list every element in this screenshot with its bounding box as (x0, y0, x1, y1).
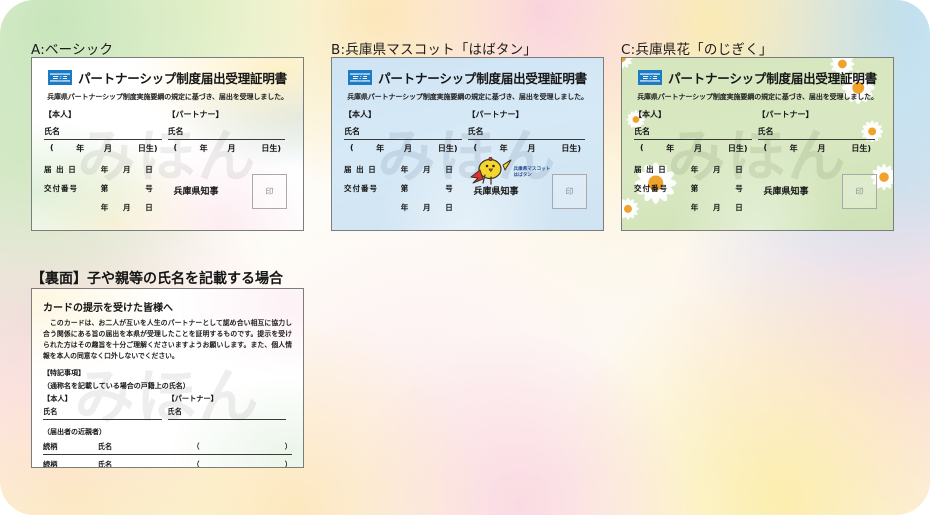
dob-open-paren: ( (764, 143, 779, 154)
dob-day: 日生) (244, 143, 285, 154)
table-row: 交付番号 第 号 (634, 183, 758, 194)
dob-open-paren: ( (350, 143, 365, 154)
governor-name: 兵庫県知事 (174, 184, 219, 197)
submission-date-month: 月 (423, 164, 445, 175)
partner-bracket-label: 【パートナー】 (758, 109, 882, 120)
kin-close-paren: ） (242, 460, 292, 468)
self-name-field: 氏名 ( 年 月 日生) (344, 126, 468, 154)
kin-name-label: 氏名 (98, 460, 193, 468)
section-label-a: A:ベーシック (31, 38, 113, 58)
mascot-caption: 兵庫県マスコット はばタン (514, 167, 551, 179)
hyogo-prefecture-emblem-icon (348, 70, 372, 85)
certificate-card-c: みほん パートナーシップ制度届出受理証明書 兵庫県パートナーシップ制度実施要綱 (621, 57, 894, 231)
dob-year: 年 (779, 143, 809, 154)
self-name-label: 氏名 (344, 126, 462, 140)
issue-date-day: 日 (445, 202, 467, 213)
issue-number-label: 交付番号 (44, 183, 101, 194)
issue-date-month: 月 (713, 202, 735, 213)
dob-day: 日生) (711, 143, 752, 154)
self-name-label: 氏名 (44, 126, 162, 140)
hyogo-prefecture-emblem-icon (48, 70, 72, 85)
dob-month: 月 (219, 143, 245, 154)
certificate-title: パートナーシップ制度届出受理証明書 (378, 68, 587, 87)
submission-date-year: 年 (401, 164, 423, 175)
back-side-heading: 【裏面】子や親等の氏名を記載する場合 (31, 268, 283, 288)
card-title-row: パートナーシップ制度届出受理証明書 (344, 68, 591, 87)
dob-day: 日生) (421, 143, 462, 154)
hyogo-prefecture-emblem-icon (638, 70, 662, 85)
lower-fields: 届 出 日 年 月 日 交付番号 第 号 (44, 164, 291, 221)
bracket-row: 【本人】 【パートナー】 (344, 109, 591, 120)
governor-name: 兵庫県知事 (764, 184, 809, 197)
mascot-caption-line1: 兵庫県マスコット (514, 167, 551, 173)
table-row: 年 月 日 (44, 202, 168, 213)
partner-name-field: 氏名 ( 年 月 日生) (168, 126, 292, 154)
seal-box: 印 (552, 174, 587, 209)
dob-month: 月 (95, 143, 121, 154)
self-name-field: 氏名 ( 年 月 日生) (634, 126, 758, 154)
dob-month: 月 (809, 143, 835, 154)
issue-number-prefix: 第 (691, 183, 713, 194)
certificate-card-b: みほん パートナーシップ制度届出受理証明書 兵庫県パートナーシップ制度実施要綱 (331, 57, 604, 231)
habatan-mascot-icon (470, 155, 512, 187)
table-row: 交付番号 第 号 (344, 183, 468, 194)
back-side-card: みほん カードの提示を受けた皆様へ このカードは、お二人が互いを人生のパートナー… (31, 288, 304, 468)
back-bracket-row: 【本人】 【パートナー】 (43, 394, 292, 404)
certificate-subtitle: 兵庫県パートナーシップ制度実施要綱の規定に基づき、届出を受理しました。 (344, 92, 591, 102)
partner-bracket-label: 【パートナー】 (468, 109, 592, 120)
dob-month: 月 (685, 143, 711, 154)
self-bracket-label: 【本人】 (344, 109, 468, 120)
certificate-title: パートナーシップ制度届出受理証明書 (78, 68, 287, 87)
certificate-card-a: みほん パートナーシップ制度届出受理証明書 兵庫県パートナーシップ制度実施要綱 (31, 57, 304, 231)
partner-dob-line: ( 年 月 日生) (168, 143, 286, 154)
seal-box: 印 (842, 174, 877, 209)
partner-name-label: 氏名 (168, 126, 286, 140)
dob-month: 月 (395, 143, 421, 154)
issue-date-year: 年 (691, 202, 713, 213)
partner-name-field: 氏名 ( 年 月 日生) (468, 126, 592, 154)
certificate-subtitle: 兵庫県パートナーシップ制度実施要綱の規定に基づき、届出を受理しました。 (634, 92, 881, 102)
dob-day: 日生) (544, 143, 585, 154)
kin-relation-label: 続柄 (43, 442, 98, 452)
table-row: 年 月 日 (344, 202, 468, 213)
submission-date-label: 届 出 日 (344, 164, 401, 175)
submission-date-day: 日 (445, 164, 467, 175)
certificate-subtitle: 兵庫県パートナーシップ制度実施要綱の規定に基づき、届出を受理しました。 (44, 92, 291, 102)
name-fields-row: 氏名 ( 年 月 日生) 氏名 ( 年 月 (344, 126, 591, 154)
lower-fields: 届 出 日 年 月 日 交付番号 第 号 (344, 164, 591, 221)
bracket-row: 【本人】 【パートナー】 (634, 109, 881, 120)
table-row: 交付番号 第 号 (44, 183, 168, 194)
issue-number-suffix: 号 (145, 183, 167, 194)
dob-year: 年 (189, 143, 219, 154)
kin-heading: （届出者の近親者） (43, 427, 292, 437)
issue-date-month: 月 (123, 202, 145, 213)
submission-date-year: 年 (691, 164, 713, 175)
self-bracket-label: 【本人】 (44, 109, 168, 120)
list-item: 続柄 氏名 （ ） (43, 442, 292, 455)
submission-date-year: 年 (101, 164, 123, 175)
issue-number-suffix: 号 (445, 183, 467, 194)
kin-relation-label: 続柄 (43, 460, 98, 468)
name-fields-row: 氏名 ( 年 月 日生) 氏名 ( 年 月 (44, 126, 291, 154)
dob-year: 年 (489, 143, 519, 154)
issue-date-day: 日 (145, 202, 167, 213)
card-title-row: パートナーシップ制度届出受理証明書 (44, 68, 291, 87)
dob-open-paren: ( (174, 143, 189, 154)
self-dob-line: ( 年 月 日生) (344, 143, 462, 154)
card-title-row: パートナーシップ制度届出受理証明書 (634, 68, 881, 87)
issue-date-month: 月 (423, 202, 445, 213)
issue-date-year: 年 (401, 202, 423, 213)
back-card-title: カードの提示を受けた皆様へ (43, 299, 292, 314)
kin-open-paren: （ (192, 460, 242, 468)
self-bracket-label: 【本人】 (634, 109, 758, 120)
issue-number-prefix: 第 (401, 183, 423, 194)
bracket-row: 【本人】 【パートナー】 (44, 109, 291, 120)
dob-day: 日生) (834, 143, 875, 154)
kin-open-paren: （ (192, 442, 242, 452)
dob-year: 年 (365, 143, 395, 154)
notes-subheading: （通称名を記載している場合の戸籍上の氏名） (43, 381, 292, 391)
submission-date-month: 月 (123, 164, 145, 175)
governor-name: 兵庫県知事 (474, 184, 519, 197)
table-row: 届 出 日 年 月 日 (634, 164, 758, 175)
self-name-field: 氏名 ( 年 月 日生) (44, 126, 168, 154)
issue-date-year: 年 (101, 202, 123, 213)
dob-year: 年 (655, 143, 685, 154)
issue-number-label: 交付番号 (344, 183, 401, 194)
mascot-caption-line2: はばタン (514, 173, 551, 179)
self-dob-line: ( 年 月 日生) (634, 143, 752, 154)
back-self-name-label: 氏名 (43, 407, 162, 420)
submission-date-day: 日 (145, 164, 167, 175)
section-label-b: B:兵庫県マスコット「はばタン」 (331, 38, 537, 58)
dob-month: 月 (519, 143, 545, 154)
issue-number-label: 交付番号 (634, 183, 691, 194)
submission-date-label: 届 出 日 (44, 164, 101, 175)
seal-box: 印 (252, 174, 287, 209)
dob-year: 年 (65, 143, 95, 154)
partner-dob-line: ( 年 月 日生) (468, 143, 586, 154)
partner-name-label: 氏名 (758, 126, 876, 140)
partner-dob-line: ( 年 月 日生) (758, 143, 876, 154)
table-row: 年 月 日 (634, 202, 758, 213)
issue-number-suffix: 号 (735, 183, 757, 194)
back-name-row: 氏名 氏名 (43, 407, 292, 420)
submission-date-month: 月 (713, 164, 735, 175)
list-item: 続柄 氏名 （ ） (43, 460, 292, 468)
self-dob-line: ( 年 月 日生) (44, 143, 162, 154)
partner-name-field: 氏名 ( 年 月 日生) (758, 126, 882, 154)
partner-bracket-label: 【パートナー】 (168, 109, 292, 120)
kin-name-label: 氏名 (98, 442, 193, 452)
table-row: 届 出 日 年 月 日 (344, 164, 468, 175)
dob-open-paren: ( (640, 143, 655, 154)
name-fields-row: 氏名 ( 年 月 日生) 氏名 ( 年 月 (634, 126, 881, 154)
self-name-label: 氏名 (634, 126, 752, 140)
dob-day: 日生) (121, 143, 162, 154)
submission-date-label: 届 出 日 (634, 164, 691, 175)
certificate-title: パートナーシップ制度届出受理証明書 (668, 68, 877, 87)
dob-open-paren: ( (474, 143, 489, 154)
back-self-name-field: 氏名 (43, 407, 168, 420)
submission-date-day: 日 (735, 164, 757, 175)
partner-name-label: 氏名 (468, 126, 586, 140)
lower-fields: 届 出 日 年 月 日 交付番号 第 号 (634, 164, 881, 221)
table-row: 届 出 日 年 月 日 (44, 164, 168, 175)
back-self-bracket: 【本人】 (43, 394, 168, 404)
section-label-c: C:兵庫県花「のじぎく」 (621, 38, 773, 58)
back-partner-name-field: 氏名 (168, 407, 293, 420)
notes-heading: 【特記事項】 (43, 368, 292, 378)
back-partner-bracket: 【パートナー】 (168, 394, 293, 404)
back-partner-name-label: 氏名 (168, 407, 287, 420)
issue-date-day: 日 (735, 202, 757, 213)
back-card-paragraph: このカードは、お二人が互いを人生のパートナーとして認め合い相互に協力し合う関係に… (43, 318, 292, 362)
issue-number-prefix: 第 (101, 183, 123, 194)
kin-close-paren: ） (242, 442, 292, 452)
poster-canvas: A:ベーシック B:兵庫県マスコット「はばタン」 C:兵庫県花「のじぎく」 みほ… (0, 0, 930, 515)
dob-open-paren: ( (50, 143, 65, 154)
